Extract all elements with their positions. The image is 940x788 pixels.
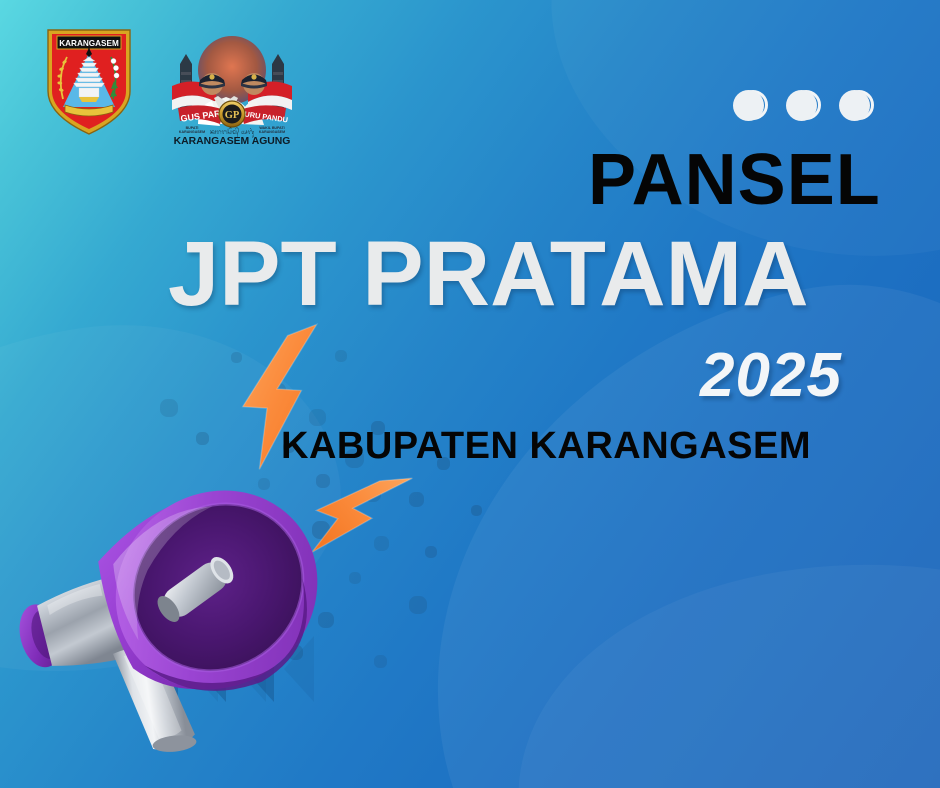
three-circle-accent	[733, 88, 873, 128]
accent-circle-3	[839, 88, 873, 122]
svg-text:KARANGASEM: KARANGASEM	[259, 130, 285, 134]
decor-dot	[374, 655, 387, 668]
monogram-text: GP	[225, 110, 240, 121]
decor-dot	[409, 492, 424, 507]
gus-par-guru-pandu-logo: GUS PAR GURU PANDU BUPATI KARANGASEM WAK…	[162, 28, 302, 146]
poster-canvas: KARANGASEM	[0, 0, 940, 788]
background-blob-lower	[498, 528, 940, 788]
decor-dot	[364, 485, 381, 502]
decor-dot	[374, 536, 389, 551]
emblem-banner-text: KARANGASEM	[59, 39, 119, 48]
decor-dot	[409, 596, 427, 614]
karangasem-regency-emblem: KARANGASEM	[45, 27, 133, 135]
svg-text:KARANGASEM: KARANGASEM	[179, 130, 205, 134]
page-region: KABUPATEN KARANGASEM	[281, 427, 811, 465]
decor-dot	[471, 505, 482, 516]
decor-dot	[335, 350, 347, 362]
page-title-pansel: PANSEL	[588, 144, 881, 216]
decor-dot	[425, 546, 437, 558]
accent-circle-1	[733, 88, 767, 122]
page-year: 2025	[700, 345, 842, 407]
page-subtitle-jpt-pratama: JPT PRATAMA	[168, 228, 809, 320]
logo-tagline: KARANGASEM AGUNG	[174, 136, 291, 146]
accent-circle-2	[786, 88, 820, 122]
decor-dot	[231, 352, 242, 363]
